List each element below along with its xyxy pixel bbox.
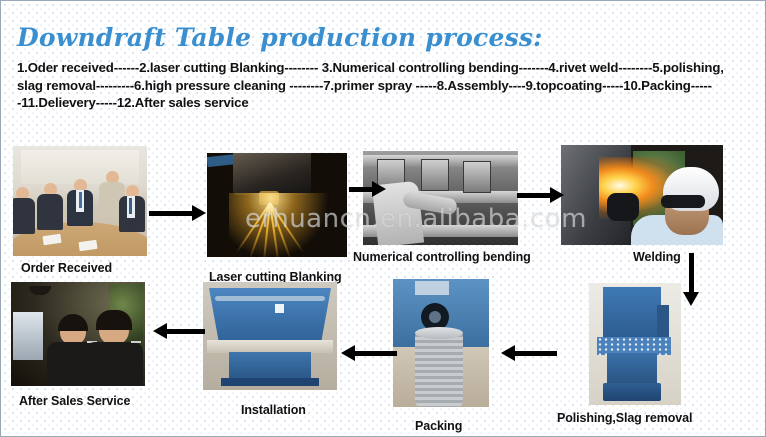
process-steps-text: 1.Oder received------2.laser cutting Bla… — [17, 59, 753, 112]
caption-after-sales-service: After Sales Service — [19, 394, 130, 408]
person-figure — [67, 179, 93, 226]
photo-packing — [393, 279, 489, 407]
press-block — [421, 159, 449, 191]
photo-order-received — [13, 146, 147, 256]
press-block — [463, 161, 491, 193]
person-figure — [37, 183, 63, 230]
arrow-order-to-laser — [149, 205, 207, 221]
collection-drawer — [603, 383, 661, 401]
page-title: Downdraft Table production process: — [17, 23, 543, 52]
laser-head — [233, 153, 311, 195]
control-panel — [415, 281, 449, 295]
process-flow-poster: Downdraft Table production process: 1.Od… — [0, 0, 766, 437]
caption-numerical-bending: Numerical controlling bending — [353, 250, 531, 264]
caption-polishing-slag-removal: Polishing,Slag removal — [557, 411, 692, 425]
photo-welding — [561, 145, 723, 245]
hood-lip — [215, 296, 325, 301]
arrow-polishing-to-packing — [501, 345, 557, 361]
product-label — [275, 304, 284, 313]
arrow-installation-to-after-sales — [153, 323, 205, 339]
person-figure — [13, 187, 35, 234]
welding-glove — [607, 193, 639, 221]
fan-blade — [429, 311, 441, 323]
caption-order-received: Order Received — [21, 261, 112, 275]
caption-welding: Welding — [633, 250, 681, 264]
safety-goggles — [661, 195, 705, 208]
caption-packing: Packing — [415, 419, 462, 433]
photo-numerical-bending — [363, 151, 518, 245]
arrow-laser-to-bending — [349, 181, 387, 197]
computer-monitor — [13, 312, 43, 360]
person-figure — [119, 185, 145, 232]
arrow-packing-to-installation — [341, 345, 397, 361]
arrow-bending-to-welding — [517, 187, 565, 203]
photo-laser-cutting — [207, 153, 347, 257]
arrow-welding-to-polishing — [683, 253, 699, 307]
photo-installation — [203, 282, 337, 390]
support-agent — [85, 313, 143, 386]
wrapped-package — [415, 331, 463, 407]
caption-installation: Installation — [241, 403, 306, 417]
table-foot — [221, 378, 319, 386]
table-backwall — [603, 287, 661, 339]
photo-polishing-slag-removal — [589, 283, 681, 405]
table-body — [607, 353, 657, 387]
photo-after-sales-service — [11, 282, 145, 386]
package-top — [415, 327, 463, 339]
